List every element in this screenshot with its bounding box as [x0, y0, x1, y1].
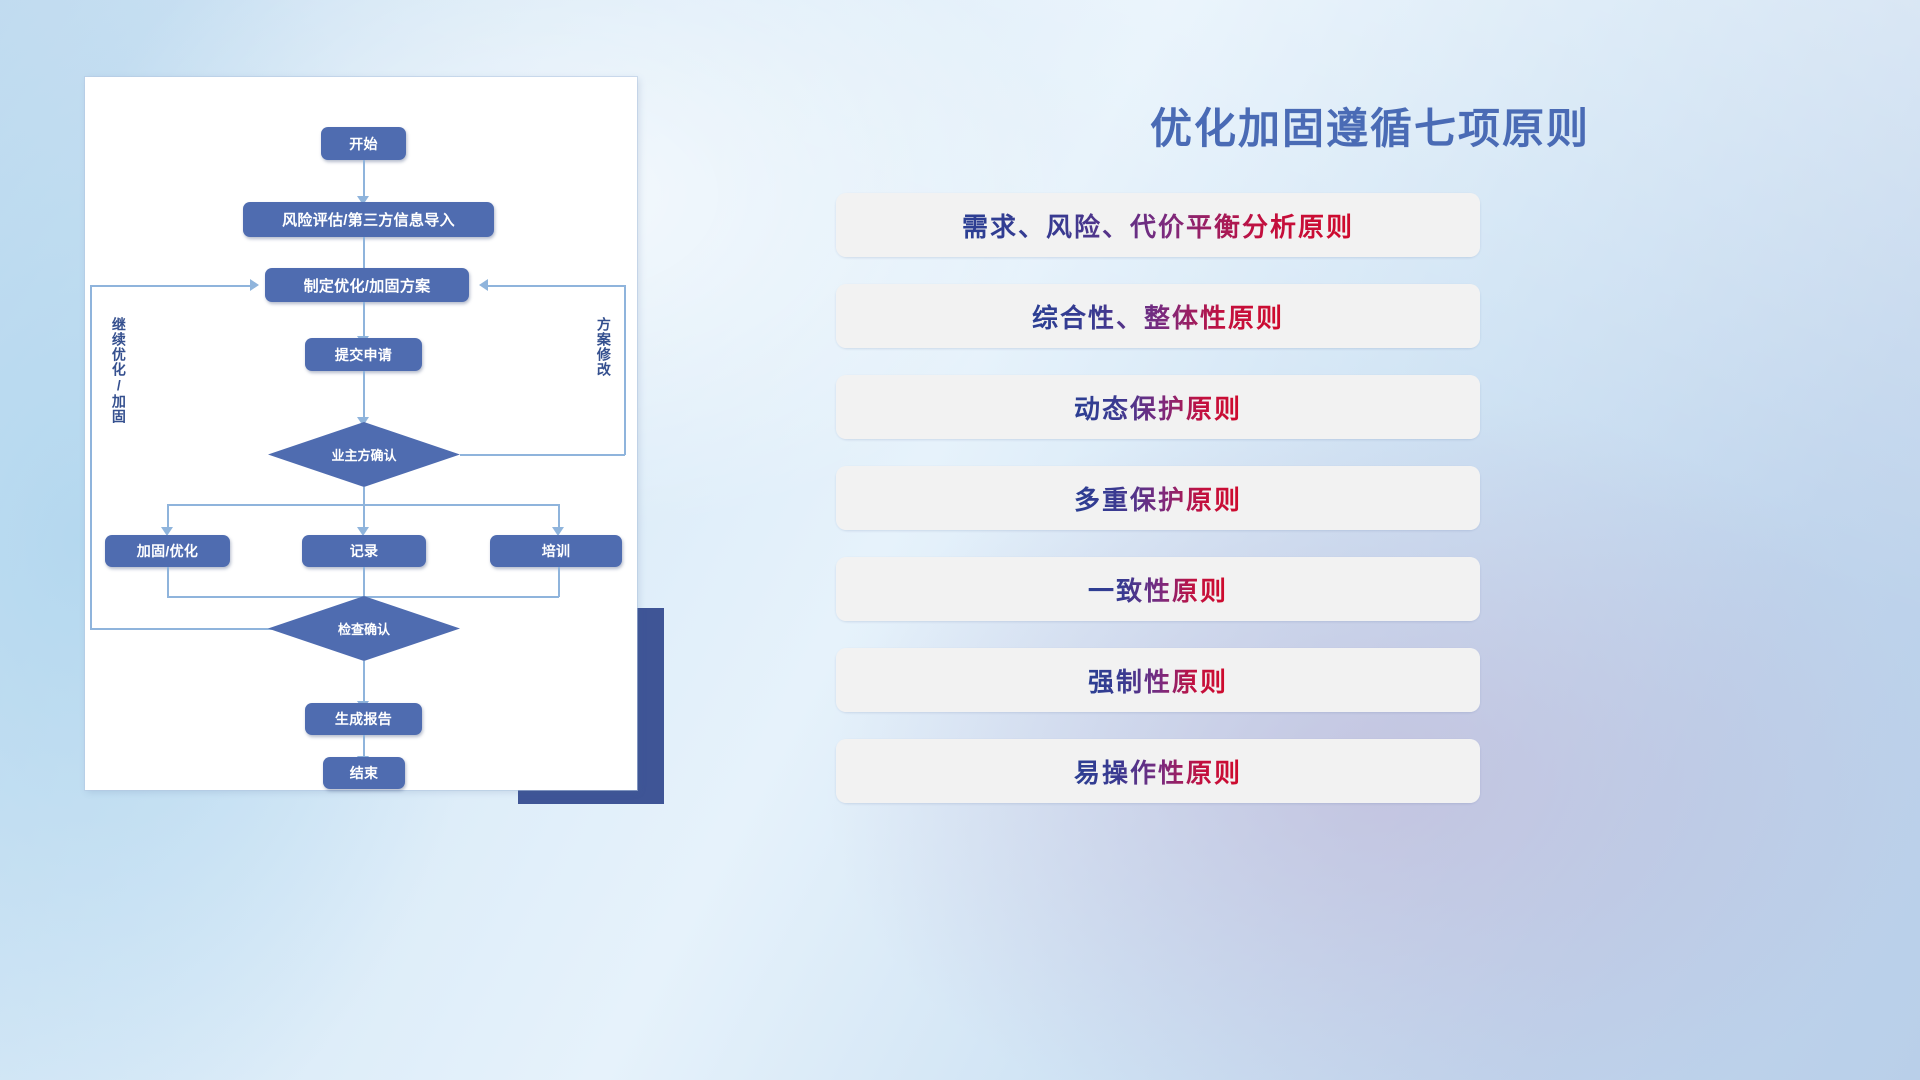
- connector-plan-submit: [363, 302, 365, 338]
- connector-fan-to-reinforce: [167, 504, 169, 529]
- flow-node-report[interactable]: 生成报告: [305, 703, 422, 735]
- page-title: 优化加固遵循七项原则: [1150, 95, 1590, 156]
- flow-node-label: 结束: [350, 763, 379, 783]
- flow-node-start[interactable]: 开始: [321, 127, 406, 160]
- loop-left-bottom: [90, 628, 300, 630]
- principle-label: 易操作性原则: [1074, 753, 1242, 790]
- flow-node-record[interactable]: 记录: [302, 535, 426, 567]
- principle-label: 动态保护原则: [1074, 389, 1242, 426]
- principle-label: 强制性原则: [1088, 662, 1228, 699]
- flow-node-plan[interactable]: 制定优化/加固方案: [265, 268, 469, 302]
- principle-card-5[interactable]: 一致性原则: [836, 557, 1480, 621]
- principle-card-4[interactable]: 多重保护原则: [836, 466, 1480, 530]
- flow-node-label: 制定优化/加固方案: [304, 275, 431, 296]
- principle-card-6[interactable]: 强制性原则: [836, 648, 1480, 712]
- flowchart-canvas: 开始 风险评估/第三方信息导入 制定优化/加固方案 提交申请 业主方确认: [85, 77, 637, 790]
- principle-label: 多重保护原则: [1074, 480, 1242, 517]
- flow-node-label: 检查确认: [338, 619, 390, 638]
- arrowhead-left: [473, 279, 488, 291]
- loop-right-top: [482, 285, 625, 287]
- flow-node-label: 提交申请: [335, 345, 392, 365]
- connector-start-risk: [363, 160, 365, 198]
- flow-node-label: 生成报告: [335, 709, 392, 729]
- loop-left-top: [90, 285, 250, 287]
- principles-list: 需求、风险、代价平衡分析原则 综合性、整体性原则 动态保护原则 多重保护原则 一…: [836, 193, 1480, 830]
- loop-right-bottom: [460, 454, 625, 456]
- connector-fan-to-record: [363, 504, 365, 529]
- connector-fan-to-training: [558, 504, 560, 529]
- flow-node-training[interactable]: 培训: [490, 535, 622, 567]
- connector-submit-owner: [363, 371, 365, 419]
- principle-label: 需求、风险、代价平衡分析原则: [962, 207, 1354, 244]
- flow-node-risk-assessment[interactable]: 风险评估/第三方信息导入: [243, 202, 494, 237]
- loop-left-label: 继续优化/加固: [111, 317, 126, 424]
- flow-node-reinforce[interactable]: 加固/优化: [105, 535, 230, 567]
- principle-card-3[interactable]: 动态保护原则: [836, 375, 1480, 439]
- flowchart-card: 开始 风险评估/第三方信息导入 制定优化/加固方案 提交申请 业主方确认: [85, 77, 637, 790]
- flow-node-end[interactable]: 结束: [323, 757, 405, 789]
- flow-node-label: 记录: [350, 541, 379, 561]
- flow-node-label: 风险评估/第三方信息导入: [282, 209, 455, 230]
- connector-training-down: [558, 567, 560, 597]
- connector-report-end: [363, 735, 365, 758]
- connector-owner-fan-stem: [363, 487, 365, 505]
- flow-node-check-confirm[interactable]: 检查确认: [268, 596, 460, 661]
- flow-node-label: 开始: [349, 134, 378, 154]
- flow-node-label: 加固/优化: [137, 541, 198, 561]
- connector-reinforce-down: [167, 567, 169, 597]
- arrowhead-right: [250, 279, 265, 291]
- principle-label: 综合性、整体性原则: [1032, 298, 1284, 335]
- flow-node-label: 培训: [542, 541, 571, 561]
- flow-node-submit[interactable]: 提交申请: [305, 338, 422, 371]
- loop-left-vertical: [90, 285, 92, 629]
- principle-label: 一致性原则: [1088, 571, 1228, 608]
- flow-node-label: 业主方确认: [331, 445, 396, 464]
- connector-check-report: [363, 661, 365, 703]
- loop-right-vertical: [624, 285, 626, 455]
- principle-card-7[interactable]: 易操作性原则: [836, 739, 1480, 803]
- loop-right-label: 方案修改: [596, 317, 611, 377]
- principle-card-1[interactable]: 需求、风险、代价平衡分析原则: [836, 193, 1480, 257]
- principle-card-2[interactable]: 综合性、整体性原则: [836, 284, 1480, 348]
- flow-node-owner-confirm[interactable]: 业主方确认: [268, 422, 460, 487]
